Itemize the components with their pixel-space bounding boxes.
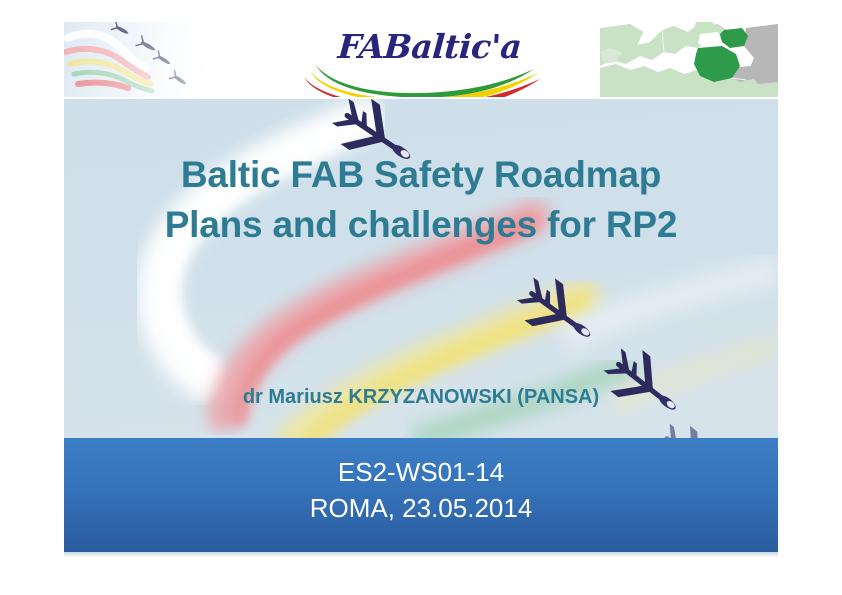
footer-location-date: ROMA, 23.05.2014 [64,490,778,526]
slide-footer: ES2-WS01-14 ROMA, 23.05.2014 [64,438,778,552]
header-jets-graphic [64,22,239,97]
fabaltica-logo: FABaltic'a [302,25,542,97]
header-jets-svg [64,22,239,97]
footer-event-code: ES2-WS01-14 [64,454,778,490]
europe-map-svg [600,22,778,97]
presentation-slide: FABaltic'a [64,22,778,557]
europe-map-graphic [600,22,778,97]
logo-swoosh-icon [302,51,542,97]
slide-background-photo [64,99,778,439]
slide-header: FABaltic'a [64,22,778,97]
aerobatic-scene-svg [64,99,778,439]
footer-drop-shadow [64,552,778,557]
